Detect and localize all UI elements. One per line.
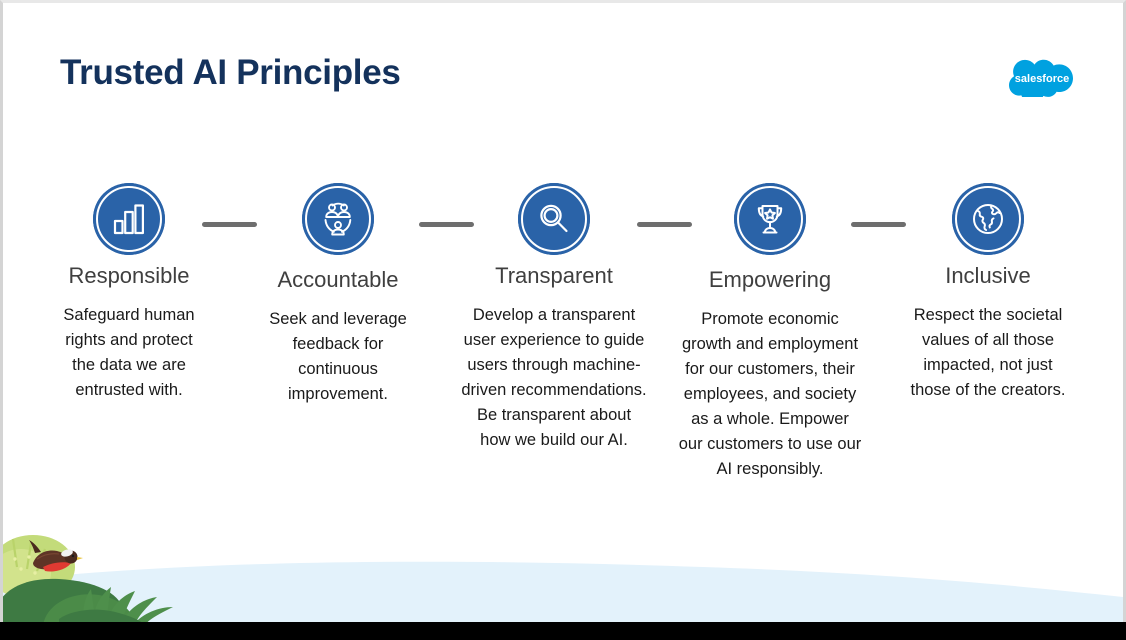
principle-heading: Transparent [458, 263, 650, 289]
water-band-illustration [3, 562, 1123, 625]
trophy-icon [734, 183, 806, 255]
principle-column-accountable: Accountable Seek and leverage feedback f… [261, 183, 415, 407]
principle-column-inclusive: Inclusive Respect the societal values of… [901, 183, 1075, 403]
connector-4 [851, 222, 906, 227]
principle-heading: Inclusive [901, 263, 1075, 289]
connector-3 [637, 222, 692, 227]
principle-body: Safeguard human rights and protect the d… [53, 303, 205, 403]
principle-body: Promote economic growth and employment f… [678, 307, 862, 482]
principle-body: Respect the societal values of all those… [909, 303, 1067, 403]
window-bottom-bar [0, 622, 1126, 640]
principle-column-transparent: Transparent Develop a transparent user e… [458, 183, 650, 453]
magnifying-glass-icon [518, 183, 590, 255]
bar-chart-icon [93, 183, 165, 255]
bottom-decoration [3, 523, 1123, 625]
principle-body: Seek and leverage feedback for continuou… [265, 307, 411, 407]
globe-icon [952, 183, 1024, 255]
principle-heading: Responsible [42, 263, 216, 289]
principle-heading: Empowering [675, 267, 865, 293]
principle-column-responsible: Responsible Safeguard human rights and p… [42, 183, 216, 403]
slide-canvas: Trusted AI Principles salesforce [3, 3, 1123, 625]
connector-1 [202, 222, 257, 227]
principle-heading: Accountable [261, 267, 415, 293]
people-network-icon [302, 183, 374, 255]
slide-frame: Trusted AI Principles salesforce [0, 0, 1126, 640]
connector-2 [419, 222, 474, 227]
principle-body: Develop a transparent user experience to… [460, 303, 648, 453]
principle-column-empowering: Empowering Promote economic growth and e… [675, 183, 865, 482]
